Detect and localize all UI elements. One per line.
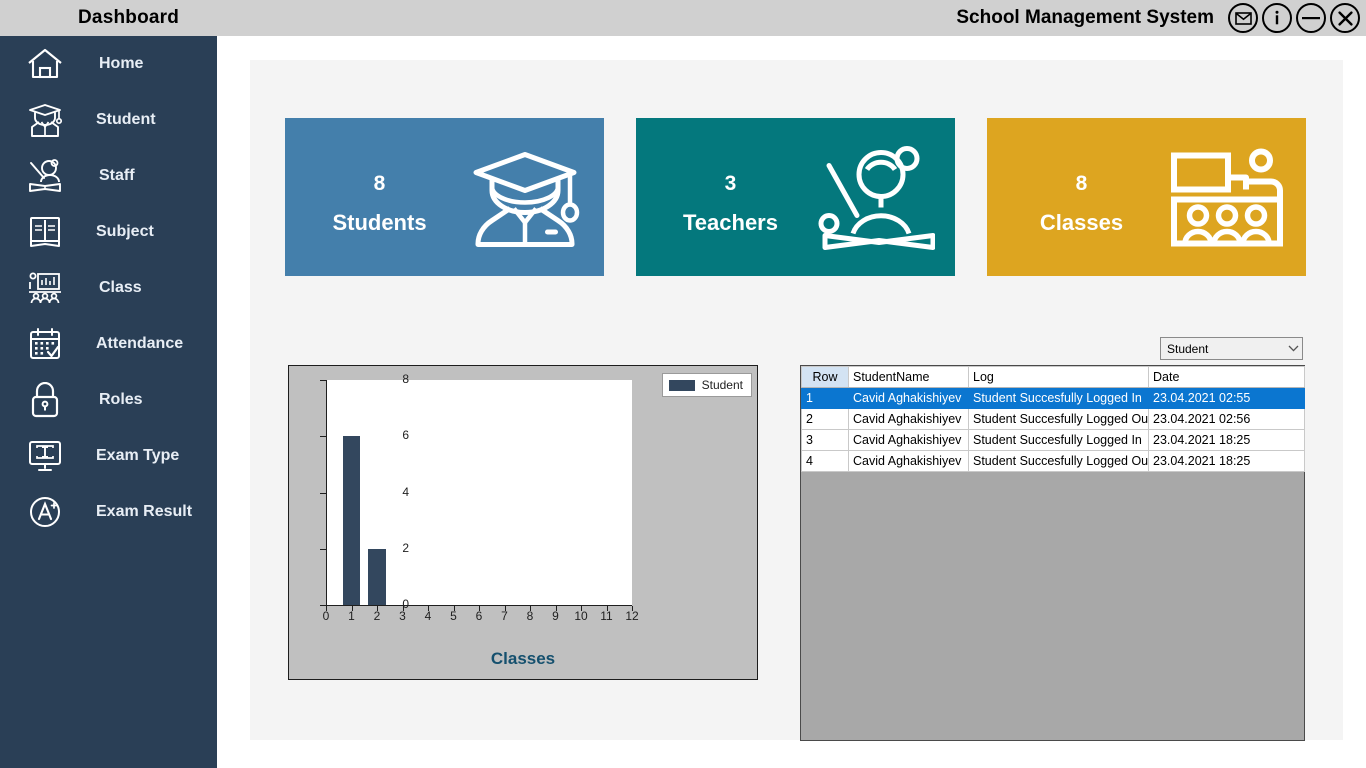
cell-row-number: 1 <box>802 388 849 409</box>
chart-x-tick <box>352 606 353 611</box>
table-row[interactable]: 2Cavid AghakishiyevStudent Succesfully L… <box>802 409 1305 430</box>
chart-x-tick <box>403 606 404 611</box>
chart-x-tick-label: 10 <box>571 609 591 623</box>
chart-x-tick-label: 7 <box>495 609 515 623</box>
chart-y-tick <box>320 380 326 381</box>
page-title: Dashboard <box>78 7 179 29</box>
chart-y-tick-label: 2 <box>389 541 409 555</box>
calendar-check-icon <box>20 324 70 364</box>
cell-row-number: 3 <box>802 430 849 451</box>
chart-x-tick <box>505 606 506 611</box>
chart-y-tick-label: 8 <box>389 372 409 386</box>
sidebar-item-staff[interactable]: Staff <box>0 148 217 204</box>
cell-row-number: 4 <box>802 451 849 472</box>
legend-label: Student <box>702 378 743 392</box>
classes-bar-chart: Student Classes 024680123456789101112 <box>288 365 758 680</box>
log-table: Row StudentName Log Date 1Cavid Aghakish… <box>801 366 1305 472</box>
sidebar-item-label: Student <box>96 111 156 129</box>
chart-x-tick <box>326 606 327 611</box>
lock-icon <box>20 380 70 420</box>
chart-title: Classes <box>289 649 757 669</box>
stat-card-label: Teachers <box>636 210 825 236</box>
window-controls <box>1228 3 1360 33</box>
stat-card-classes[interactable]: 8 Classes <box>987 118 1306 276</box>
chart-bar <box>343 436 361 605</box>
chart-y-tick <box>320 436 326 437</box>
chart-x-tick-label: 2 <box>367 609 387 623</box>
sidebar-item-label: Attendance <box>96 335 183 353</box>
legend-swatch <box>669 380 695 391</box>
sidebar-item-home[interactable]: Home <box>0 36 217 92</box>
monitor-text-icon <box>20 436 70 476</box>
sidebar-item-subject[interactable]: Subject <box>0 204 217 260</box>
content-panel: 8 Students 3 Teachers <box>250 60 1343 740</box>
chart-x-tick-label: 6 <box>469 609 489 623</box>
chart-y-tick <box>320 493 326 494</box>
stat-card-students[interactable]: 8 Students <box>285 118 604 276</box>
mail-icon[interactable] <box>1228 3 1258 33</box>
chart-legend: Student <box>662 373 752 397</box>
column-header-studentname[interactable]: StudentName <box>849 367 969 388</box>
minimize-icon[interactable] <box>1296 3 1326 33</box>
chart-y-tick-label: 4 <box>389 485 409 499</box>
chart-x-tick-label: 5 <box>444 609 464 623</box>
cell-log: Student Succesfully Logged Out <box>969 409 1149 430</box>
close-icon[interactable] <box>1330 3 1360 33</box>
chart-x-tick <box>377 606 378 611</box>
column-header-log[interactable]: Log <box>969 367 1149 388</box>
stat-card-count: 3 <box>636 172 825 196</box>
cell-log: Student Succesfully Logged In <box>969 430 1149 451</box>
chart-x-tick <box>632 606 633 611</box>
sidebar-item-label: Roles <box>99 391 143 409</box>
sidebar-item-exam-type[interactable]: Exam Type <box>0 428 217 484</box>
column-header-row[interactable]: Row <box>802 367 849 388</box>
table-header-row: Row StudentName Log Date <box>802 367 1305 388</box>
sidebar-item-label: Exam Result <box>96 503 192 521</box>
stat-card-label: Classes <box>987 210 1176 236</box>
table-row[interactable]: 1Cavid AghakishiyevStudent Succesfully L… <box>802 388 1305 409</box>
sidebar-item-label: Exam Type <box>96 447 179 465</box>
sidebar-item-attendance[interactable]: Attendance <box>0 316 217 372</box>
chart-x-tick-label: 4 <box>418 609 438 623</box>
chart-x-tick-label: 8 <box>520 609 540 623</box>
graduate-cap-icon <box>460 135 590 260</box>
teacher-icon <box>20 156 70 196</box>
cell-log: Student Succesfully Logged Out <box>969 451 1149 472</box>
info-icon[interactable] <box>1262 3 1292 33</box>
stat-card-count: 8 <box>285 172 474 196</box>
sidebar-item-label: Staff <box>99 167 135 185</box>
book-icon <box>20 212 70 252</box>
sidebar-item-roles[interactable]: Roles <box>0 372 217 428</box>
sidebar-item-label: Subject <box>96 223 154 241</box>
table-body: 1Cavid AghakishiyevStudent Succesfully L… <box>802 388 1305 472</box>
filter-dropdown-value: Student <box>1161 342 1284 356</box>
home-icon <box>20 44 70 84</box>
chart-y-tick <box>320 549 326 550</box>
cell-date: 23.04.2021 18:25 <box>1149 451 1305 472</box>
chart-x-tick-label: 12 <box>622 609 642 623</box>
chart-y-tick-label: 6 <box>389 428 409 442</box>
cell-student-name: Cavid Aghakishiyev <box>849 388 969 409</box>
sidebar-item-label: Class <box>99 279 142 297</box>
title-bar: Dashboard School Management System <box>0 0 1366 36</box>
chart-x-tick <box>530 606 531 611</box>
chart-x-tick <box>556 606 557 611</box>
cell-date: 23.04.2021 02:55 <box>1149 388 1305 409</box>
chart-x-tick <box>454 606 455 611</box>
app-title: School Management System <box>956 7 1214 29</box>
stat-card-label: Students <box>285 210 474 236</box>
sidebar-item-class[interactable]: Class <box>0 260 217 316</box>
column-header-date[interactable]: Date <box>1149 367 1305 388</box>
stat-card-count: 8 <box>987 172 1176 196</box>
cell-date: 23.04.2021 02:56 <box>1149 409 1305 430</box>
stat-card-teachers[interactable]: 3 Teachers <box>636 118 955 276</box>
chart-x-tick-label: 11 <box>597 609 617 623</box>
graduate-icon <box>20 100 70 140</box>
sidebar: Home Student Staff <box>0 36 217 768</box>
cell-log: Student Succesfully Logged In <box>969 388 1149 409</box>
sidebar-item-label: Home <box>99 55 143 73</box>
sidebar-item-student[interactable]: Student <box>0 92 217 148</box>
cell-row-number: 2 <box>802 409 849 430</box>
chart-x-tick <box>428 606 429 611</box>
chevron-down-icon <box>1284 345 1302 352</box>
table-row[interactable]: 3Cavid AghakishiyevStudent Succesfully L… <box>802 430 1305 451</box>
chart-x-tick-label: 9 <box>546 609 566 623</box>
log-table-panel[interactable]: Row StudentName Log Date 1Cavid Aghakish… <box>800 365 1305 741</box>
teacher-pointer-icon <box>811 135 941 260</box>
chart-x-tick <box>581 606 582 611</box>
chart-x-tick-label: 3 <box>393 609 413 623</box>
chart-x-tick <box>479 606 480 611</box>
chart-x-tick-label: 0 <box>316 609 336 623</box>
chart-bars <box>326 380 632 605</box>
grade-a-icon <box>20 492 70 532</box>
sidebar-item-exam-result[interactable]: Exam Result <box>0 484 217 540</box>
cell-student-name: Cavid Aghakishiyev <box>849 451 969 472</box>
classroom-people-icon <box>1162 135 1292 260</box>
classroom-icon <box>20 268 70 308</box>
table-row[interactable]: 4Cavid AghakishiyevStudent Succesfully L… <box>802 451 1305 472</box>
table-header: Row StudentName Log Date <box>802 367 1305 388</box>
chart-bar <box>368 549 386 605</box>
cell-student-name: Cavid Aghakishiyev <box>849 430 969 451</box>
chart-x-tick-label: 1 <box>342 609 362 623</box>
cell-date: 23.04.2021 18:25 <box>1149 430 1305 451</box>
chart-x-tick <box>607 606 608 611</box>
filter-dropdown[interactable]: Student <box>1160 337 1303 360</box>
cell-student-name: Cavid Aghakishiyev <box>849 409 969 430</box>
